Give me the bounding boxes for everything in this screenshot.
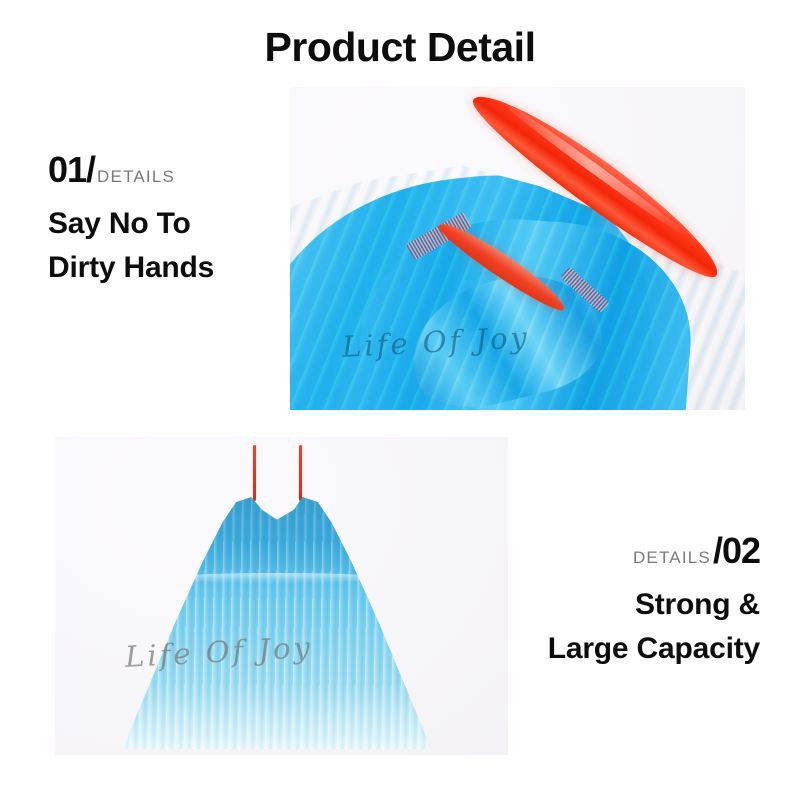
detail-label-02: DETAILS	[633, 549, 711, 566]
detail-number-02: /02	[713, 533, 760, 569]
red-hanging-string-left	[253, 445, 256, 501]
page-title: Product Detail	[0, 23, 800, 72]
detail-label-01: DETAILS	[97, 168, 175, 185]
product-detail-page: Product Detail Life Of Joy Life Of Joy	[0, 0, 800, 800]
detail-block-02: DETAILS /02 Strong & Large Capacity	[548, 533, 760, 672]
bag-bottom-sheen	[107, 683, 447, 749]
detail-label-row-01: 01/ DETAILS	[48, 152, 214, 188]
product-photo-bottom: Life Of Joy	[55, 437, 508, 755]
bag-fold-highlight	[168, 573, 386, 583]
headline-line-2: Large Capacity	[548, 627, 760, 671]
detail-headline-01: Say No To Dirty Hands	[48, 202, 214, 291]
red-hanging-string-right	[299, 445, 302, 501]
detail-headline-02: Strong & Large Capacity	[548, 583, 760, 672]
detail-label-row-02: DETAILS /02	[548, 533, 760, 569]
headline-line-1: Say No To	[48, 202, 214, 246]
headline-line-1: Strong &	[548, 583, 760, 627]
product-photo-top: Life Of Joy	[290, 87, 745, 410]
detail-block-01: 01/ DETAILS Say No To Dirty Hands	[48, 152, 214, 291]
headline-line-2: Dirty Hands	[48, 246, 214, 290]
detail-number-01: 01/	[48, 152, 95, 188]
